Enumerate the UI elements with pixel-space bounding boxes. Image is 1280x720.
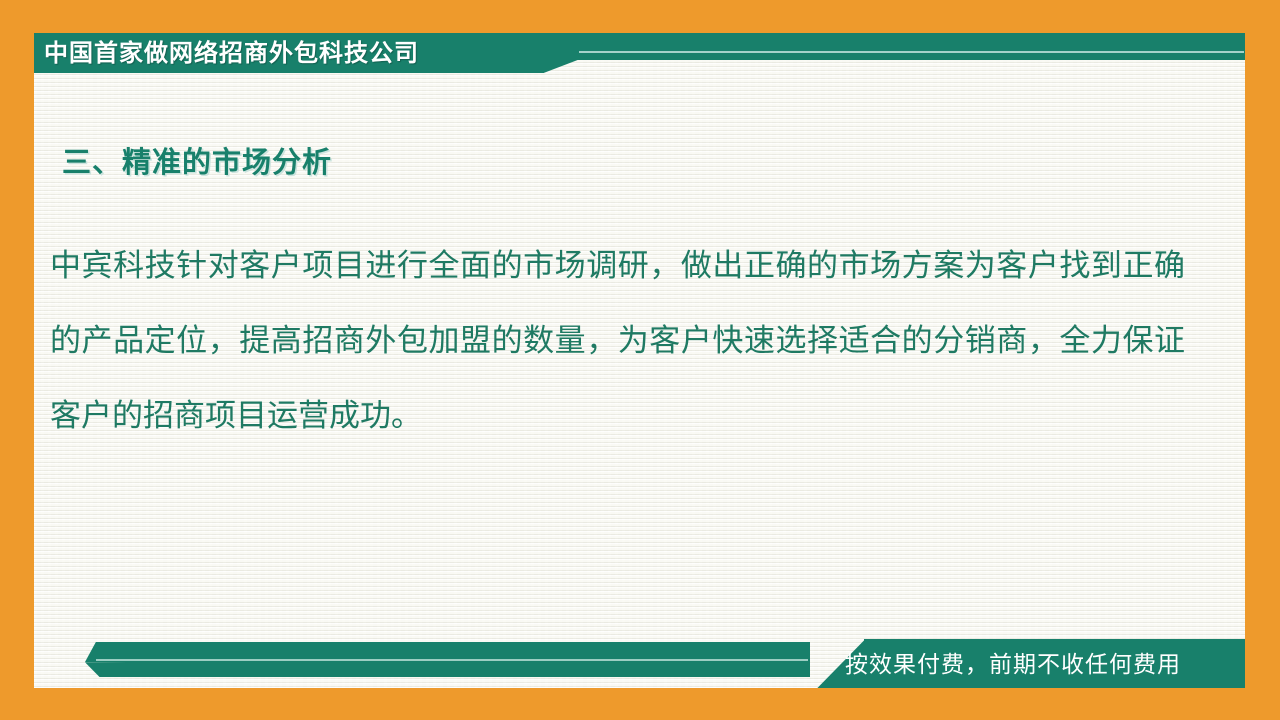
header-title: 中国首家做网络招商外包科技公司 [44,37,419,71]
header-hairline [579,51,1244,53]
footer-hairline [96,659,808,661]
frame-strip-left [0,0,34,720]
footer-slogan: 按效果付费，前期不收任何费用 [845,648,1181,680]
frame-strip-bottom [0,688,1280,720]
page-title: 三、精准的市场分析 [62,139,332,181]
frame-strip-right [1245,0,1280,720]
frame-strip-top [0,0,1280,33]
body-paragraph: 中宾科技针对客户项目进行全面的市场调研，做出正确的市场方案为客户找到正确的产品定… [50,228,1185,453]
slide: 中国首家做网络招商外包科技公司 三、精准的市场分析 中宾科技针对客户项目进行全面… [0,0,1280,720]
